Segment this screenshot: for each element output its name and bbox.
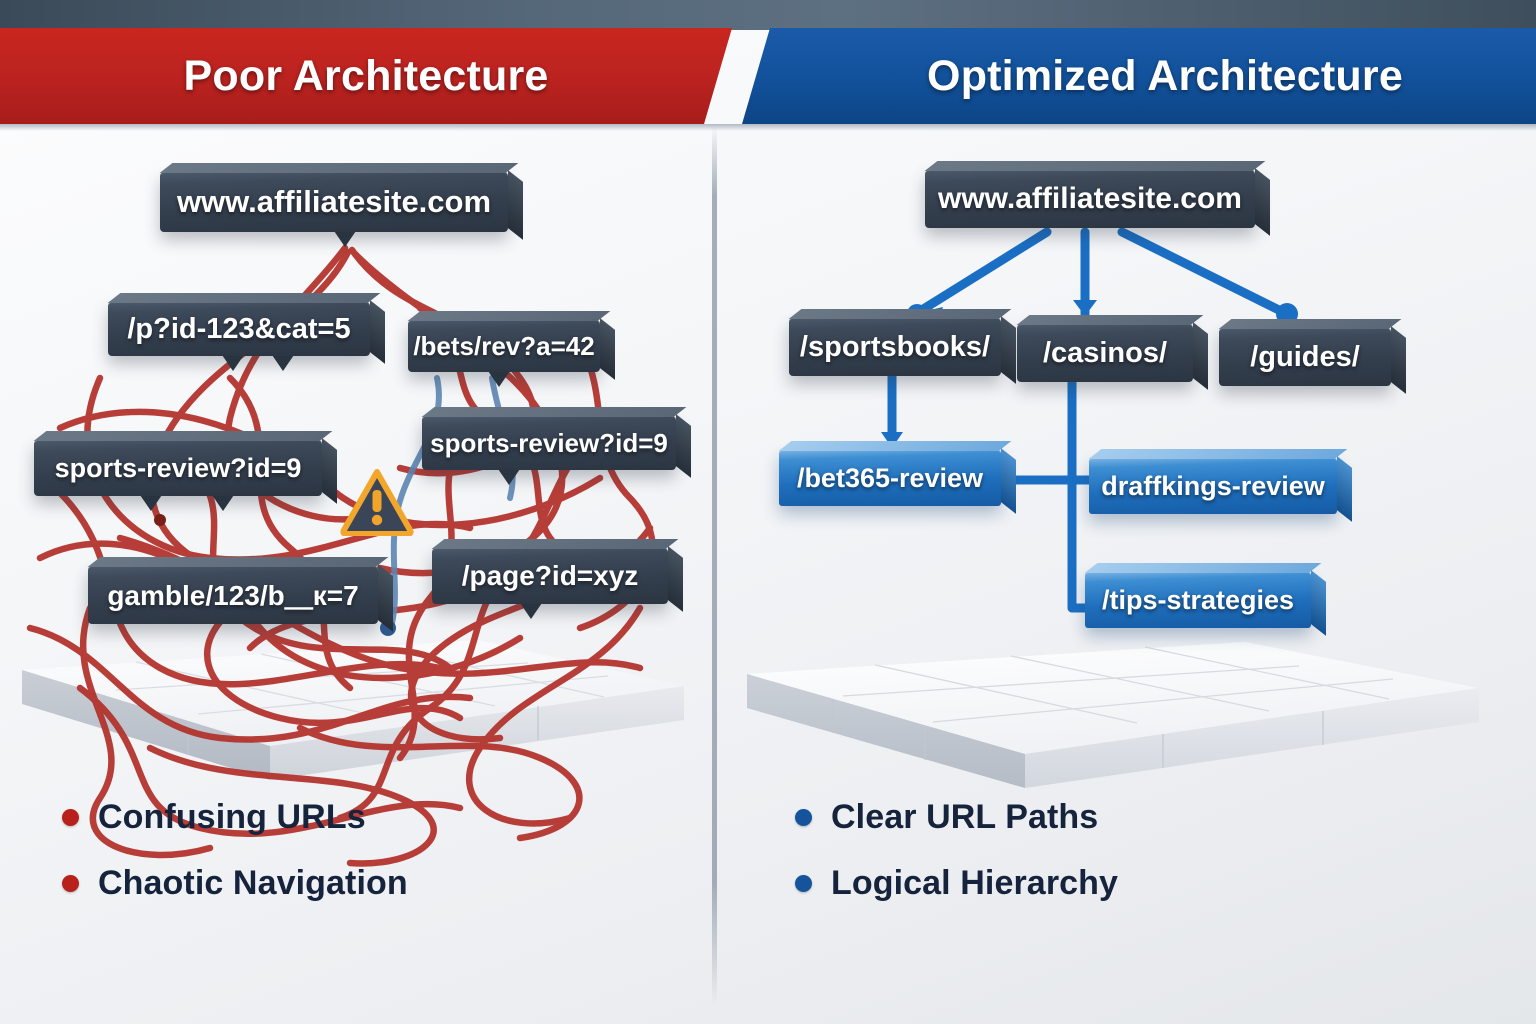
node-label: sports-review?id=9	[416, 428, 682, 459]
warning-triangle-icon	[340, 468, 414, 541]
node-label: /p?id-123&cat=5	[113, 313, 364, 346]
node-left-3[interactable]: sports-review?id=9	[34, 440, 322, 496]
bullet-dot-icon	[795, 875, 812, 892]
node-right-root[interactable]: www.affiliatesite.com	[925, 170, 1255, 228]
node-left-root[interactable]: www.affiliatesite.com	[160, 172, 508, 232]
node-label: /sportsbooks/	[786, 331, 1004, 364]
node-category-sportsbooks[interactable]: /sportsbooks/	[789, 318, 1001, 376]
node-leaf-draftkings-review[interactable]: draffkings-review	[1089, 458, 1337, 514]
node-leaf-bet365-review[interactable]: /bet365-review	[779, 450, 1001, 506]
node-label: /tips-strategies	[1088, 585, 1308, 616]
poor-architecture-panel: www.affiliatesite.com /p?id-123&cat=5 /b…	[0, 128, 712, 1024]
poor-bullets-list: Confusing URLs Chaotic Navigation	[62, 798, 408, 930]
list-item: Confusing URLs	[62, 798, 408, 837]
node-label: draffkings-review	[1087, 471, 1339, 502]
list-item: Clear URL Paths	[795, 798, 1118, 837]
node-label: www.affiliatesite.com	[163, 184, 505, 220]
bullet-text: Logical Hierarchy	[831, 864, 1118, 903]
poor-architecture-banner: Poor Architecture	[0, 28, 758, 124]
node-left-1[interactable]: /p?id-123&cat=5	[108, 302, 370, 356]
node-left-5[interactable]: gamble/123/b⸏к=7	[88, 566, 378, 624]
bullet-dot-icon	[795, 809, 812, 826]
node-left-4[interactable]: sports-review?id=9	[422, 416, 676, 470]
list-item: Logical Hierarchy	[795, 864, 1118, 903]
top-accent-strip	[0, 0, 1536, 30]
bullet-dot-icon	[62, 809, 79, 826]
node-category-casinos[interactable]: /casinos/	[1017, 324, 1193, 382]
node-label: sports-review?id=9	[41, 453, 316, 484]
bullet-text: Clear URL Paths	[831, 798, 1098, 837]
bullet-text: Confusing URLs	[98, 798, 366, 837]
node-label: gamble/123/b⸏к=7	[93, 576, 372, 614]
node-left-6[interactable]: /page?id=xyz	[432, 548, 668, 604]
node-label: /guides/	[1236, 341, 1374, 374]
optimized-architecture-banner: Optimized Architecture	[742, 28, 1536, 124]
list-item: Chaotic Navigation	[62, 864, 408, 903]
node-label: /casinos/	[1029, 337, 1181, 370]
node-category-guides[interactable]: /guides/	[1219, 328, 1391, 386]
optimized-architecture-panel: www.affiliatesite.com /sportsbooks/ /cas…	[717, 128, 1536, 1024]
node-label: /bet365-review	[783, 463, 997, 494]
optimized-bullets-list: Clear URL Paths Logical Hierarchy	[795, 798, 1118, 930]
node-label: www.affiliatesite.com	[924, 182, 1256, 216]
infographic-canvas: Poor Architecture Optimized Architecture	[0, 0, 1536, 1024]
poor-architecture-title: Poor Architecture	[184, 52, 549, 101]
node-label: /page?id=xyz	[448, 560, 653, 592]
bullet-dot-icon	[62, 875, 79, 892]
headers: Poor Architecture Optimized Architecture	[0, 28, 1536, 124]
node-label: /bets/rev?a=42	[399, 331, 608, 362]
node-leaf-tips-strategies[interactable]: /tips-strategies	[1085, 572, 1311, 628]
node-left-2[interactable]: /bets/rev?a=42	[408, 320, 600, 372]
bullet-text: Chaotic Navigation	[98, 864, 408, 903]
optimized-architecture-title: Optimized Architecture	[927, 52, 1403, 101]
